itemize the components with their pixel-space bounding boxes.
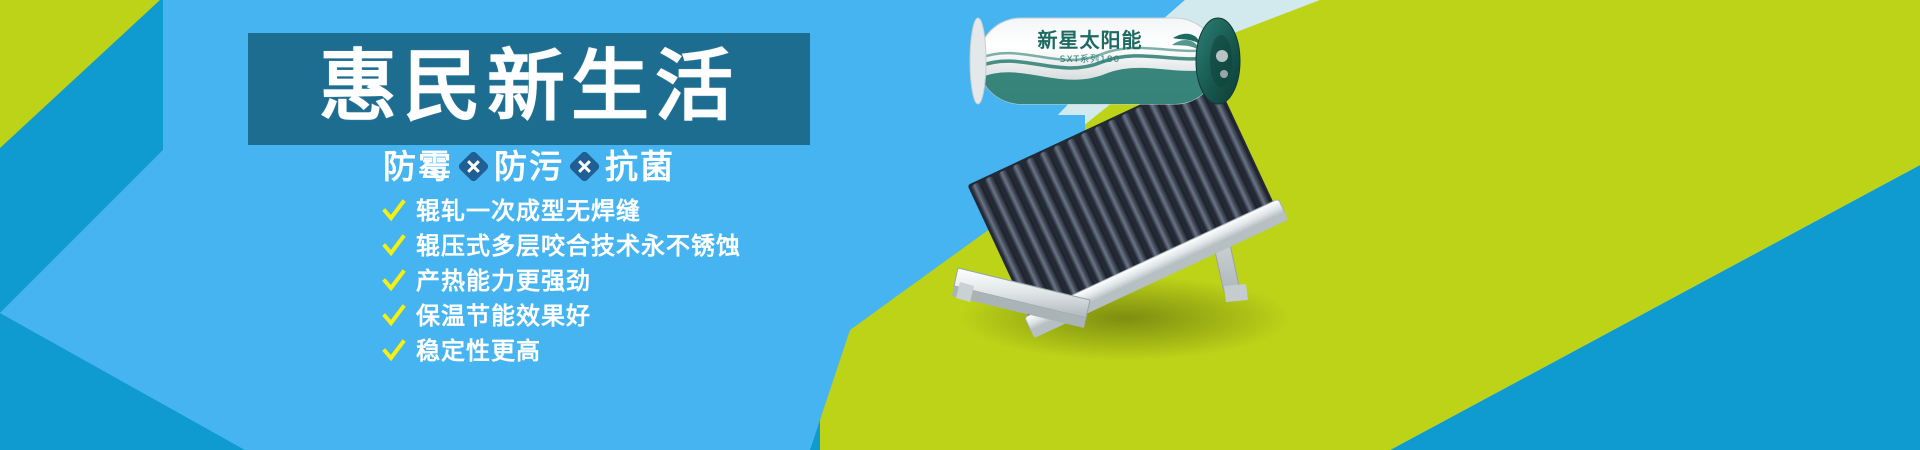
list-item-label: 辊压式多层咬合技术永不锈蚀 bbox=[416, 234, 741, 258]
promo-banner: 惠民新生活 防霉 防污 抗菌 辊轧一次成型无焊缝 辊压式多层咬合技术永不锈蚀 产… bbox=[0, 0, 1920, 450]
list-item: 产热能力更强劲 bbox=[382, 265, 741, 296]
water-tank: 新星太阳能 SXT系列180 bbox=[970, 18, 1240, 108]
tank-cap-port bbox=[1216, 50, 1228, 62]
list-item-label: 稳定性更高 bbox=[416, 339, 541, 363]
check-icon bbox=[382, 199, 406, 223]
check-icon bbox=[382, 339, 406, 363]
list-item: 稳定性更高 bbox=[382, 335, 741, 366]
tank-label-text: 新星太阳能 bbox=[1038, 28, 1143, 52]
subtitle-word-1: 防霉 bbox=[383, 150, 453, 183]
list-item-label: 产热能力更强劲 bbox=[416, 269, 591, 293]
list-item: 辊压式多层咬合技术永不锈蚀 bbox=[382, 230, 741, 261]
list-item-label: 保温节能效果好 bbox=[416, 304, 591, 328]
list-item-label: 辊轧一次成型无焊缝 bbox=[416, 199, 641, 223]
title-box: 惠民新生活 bbox=[248, 33, 810, 145]
tank-sub-text: SXT系列180 bbox=[1060, 53, 1120, 65]
plus-diamond-icon bbox=[457, 150, 490, 183]
subtitle-word-2: 防污 bbox=[494, 150, 564, 183]
page-title: 惠民新生活 bbox=[319, 48, 739, 126]
solar-water-heater-image: 新星太阳能 SXT系列180 bbox=[940, 0, 1360, 370]
check-icon bbox=[382, 234, 406, 258]
feature-list: 辊轧一次成型无焊缝 辊压式多层咬合技术永不锈蚀 产热能力更强劲 保温节能效果好 bbox=[382, 195, 741, 370]
list-item: 辊轧一次成型无焊缝 bbox=[382, 195, 741, 226]
list-item: 保温节能效果好 bbox=[382, 300, 741, 331]
subtitle: 防霉 防污 抗菌 bbox=[248, 143, 810, 189]
plus-diamond-icon bbox=[568, 150, 601, 183]
check-icon bbox=[382, 269, 406, 293]
subtitle-word-3: 抗菌 bbox=[605, 150, 675, 183]
check-icon bbox=[382, 304, 406, 328]
